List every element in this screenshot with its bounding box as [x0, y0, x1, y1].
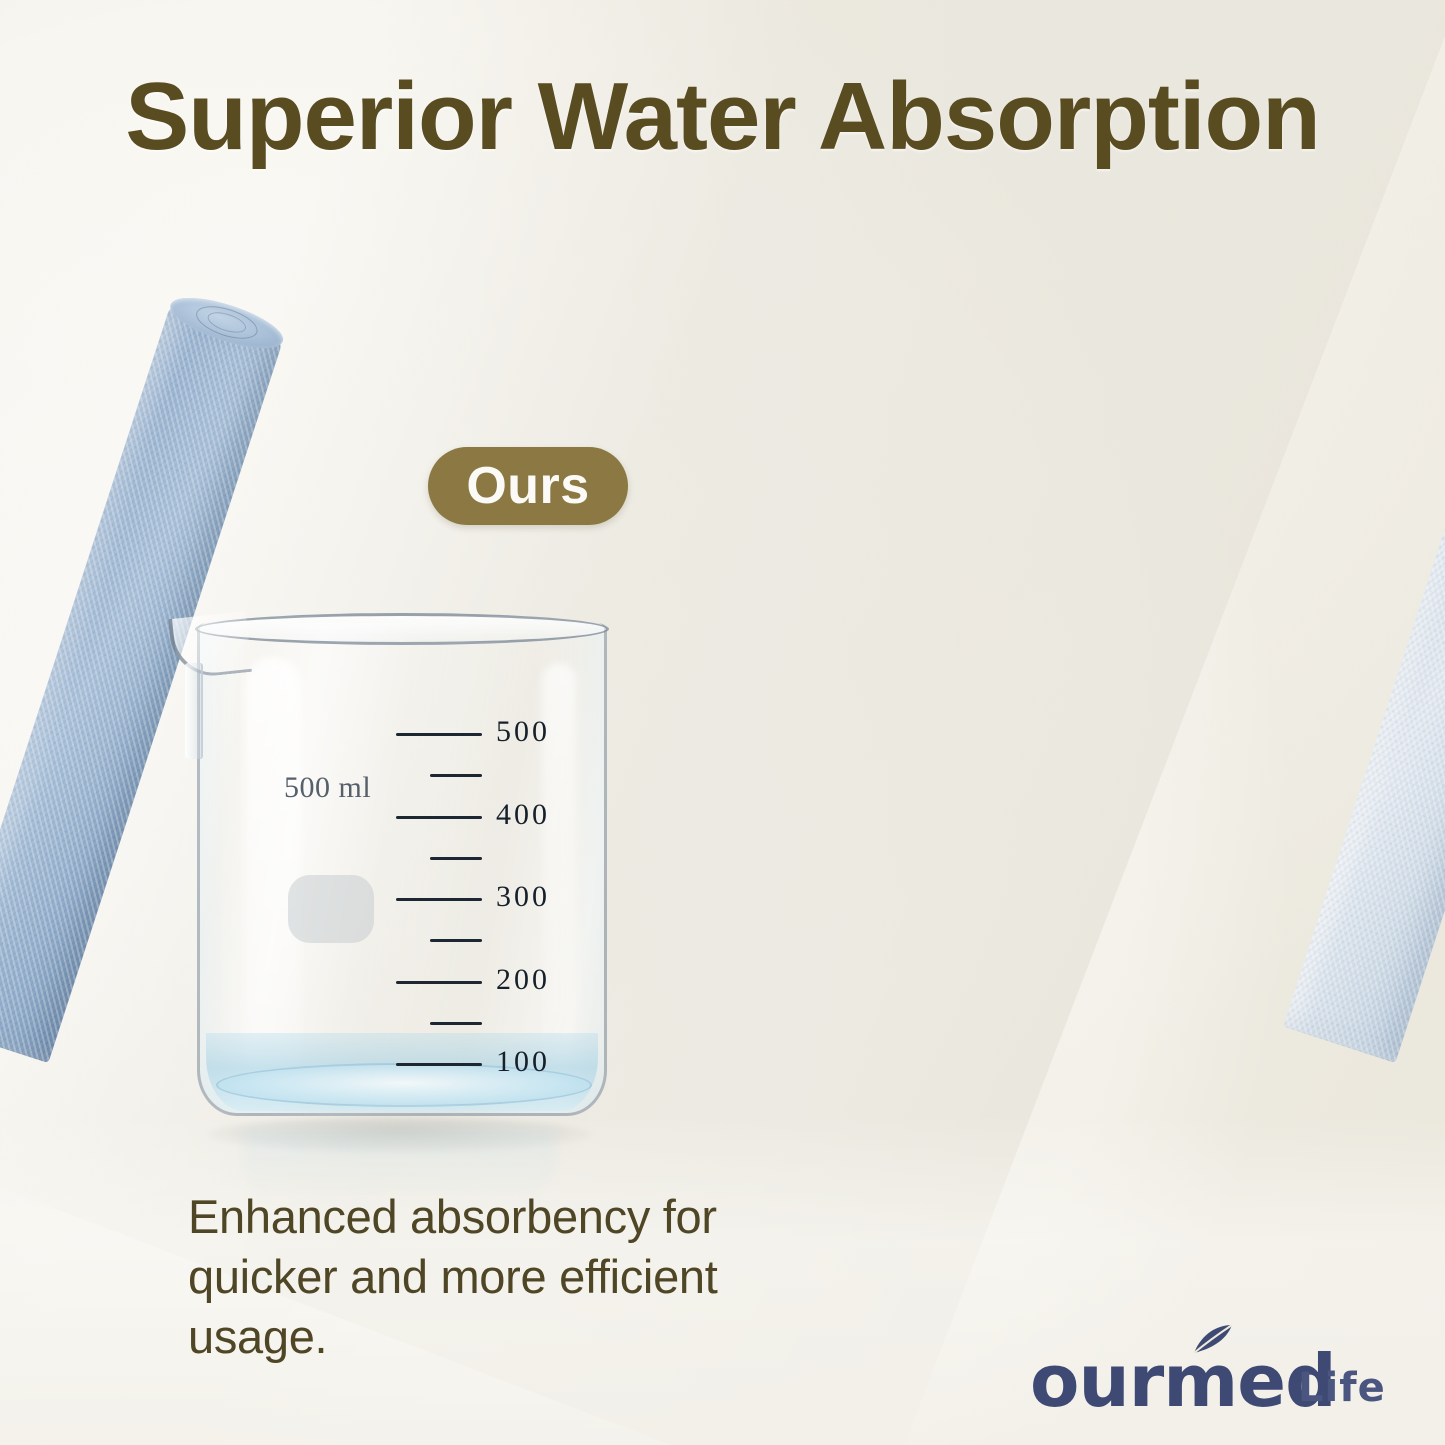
graduation-value: 200: [496, 963, 550, 997]
graduation-major: 500: [396, 723, 586, 745]
graduation-tick: [396, 898, 482, 901]
graduation-tick: [430, 857, 482, 860]
beaker-glass-body: 500 ml 500400300200100: [197, 623, 607, 1116]
graduation-tick: [430, 774, 482, 777]
graduation-tick: [430, 939, 482, 942]
beaker-spout-lip: [185, 663, 203, 759]
infographic-canvas: Superior Water Absorption 500 ml 5004003…: [0, 0, 1445, 1445]
glass-highlight-left: [244, 657, 302, 1077]
graduation-minor: [396, 847, 586, 869]
graduation-major: 300: [396, 888, 586, 910]
beaker-capacity-label: 500 ml: [284, 771, 371, 805]
panel-others: 500 ml 500400300200100 Others Standard a…: [722, 0, 1445, 1445]
graduation-value: 300: [496, 880, 550, 914]
graduation-tick: [396, 1063, 482, 1066]
beaker-rim: [195, 613, 609, 645]
graduation-scale: 500400300200100: [396, 723, 586, 1053]
badge-ours-label: Ours: [466, 456, 589, 516]
logo-suffix: Life: [1298, 1365, 1386, 1411]
graduation-tick: [396, 981, 482, 984]
graduation-value: 500: [496, 715, 550, 749]
graduation-major: 200: [396, 971, 586, 993]
badge-ours[interactable]: Ours: [428, 447, 628, 525]
paper-texture: [1283, 304, 1445, 1063]
graduation-minor: [396, 929, 586, 951]
graduation-tick: [430, 1022, 482, 1025]
graduation-value: 400: [496, 798, 550, 832]
caption-ours: Enhanced absorbency for quicker and more…: [188, 1187, 718, 1367]
graduation-minor: [396, 764, 586, 786]
graduation-major: 100: [396, 1053, 586, 1075]
graduation-major: 400: [396, 806, 586, 828]
logo-wordmark: ourmed: [1030, 1339, 1336, 1423]
graduation-value: 100: [496, 1045, 550, 1079]
panel-ours: 500 ml 500400300200100 Ours Enhanced abs…: [0, 0, 722, 1445]
beaker-ours: 500 ml 500400300200100: [197, 605, 601, 1130]
paper-towel-roll-others: [1283, 304, 1445, 1063]
beaker-spout: [168, 611, 252, 680]
graduation-minor: [396, 1012, 586, 1034]
beaker-label-patch: [288, 875, 374, 943]
brand-logo[interactable]: ourmed Life: [1030, 1325, 1420, 1429]
graduation-tick: [396, 733, 482, 736]
graduation-tick: [396, 816, 482, 819]
